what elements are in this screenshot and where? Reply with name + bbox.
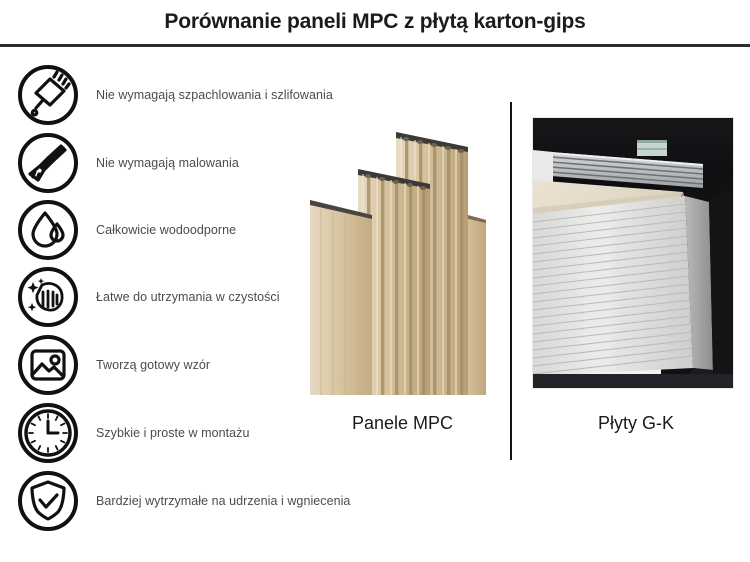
page-title: Porównanie paneli MPC z płytą karton-gip…	[164, 10, 585, 34]
gypsum-board-stack-photo	[532, 117, 734, 389]
mpc-column: Panele MPC	[300, 95, 505, 465]
shield-check-icon	[16, 469, 80, 533]
feature-item-spatula: Nie wymagają szpachlowania i szlifowania	[16, 62, 333, 128]
gk-column: Płyty G-K	[522, 95, 750, 465]
feature-item-fast-install: Szybkie i proste w montażu	[16, 400, 249, 466]
feature-item-impact-resistant: Bardziej wytrzymałe na udrzenia i wgniec…	[16, 468, 350, 534]
comparison-area: Panele MPC	[300, 95, 750, 465]
water-drop-icon	[16, 198, 80, 262]
feature-label: Całkowicie wodoodporne	[96, 223, 236, 237]
cleaning-hand-icon	[16, 265, 80, 329]
feature-label: Nie wymagają malowania	[96, 156, 239, 170]
feature-label: Szybkie i proste w montażu	[96, 426, 249, 440]
header-divider	[0, 44, 750, 47]
image-icon	[16, 333, 80, 397]
feature-label: Bardziej wytrzymałe na udrzenia i wgniec…	[96, 494, 350, 508]
mpc-caption: Panele MPC	[300, 413, 505, 434]
clock-icon	[16, 401, 80, 465]
feature-label: Łatwe do utrzymania w czystości	[96, 290, 280, 304]
gk-caption: Płyty G-K	[522, 413, 750, 434]
feature-label: Nie wymagają szpachlowania i szlifowania	[96, 88, 333, 102]
spatula-icon	[16, 63, 80, 127]
feature-item-waterproof: Całkowicie wodoodporne	[16, 197, 236, 263]
vertical-divider	[510, 102, 512, 460]
feature-item-paintbrush: Nie wymagają malowania	[16, 130, 239, 196]
page-header: Porównanie paneli MPC z płytą karton-gip…	[0, 0, 750, 44]
feature-item-ready-pattern: Tworzą gotowy wzór	[16, 332, 210, 398]
mpc-slat-panels-image	[300, 105, 505, 405]
feature-label: Tworzą gotowy wzór	[96, 358, 210, 372]
paintbrush-icon	[16, 131, 80, 195]
feature-item-easy-clean: Łatwe do utrzymania w czystości	[16, 264, 280, 330]
